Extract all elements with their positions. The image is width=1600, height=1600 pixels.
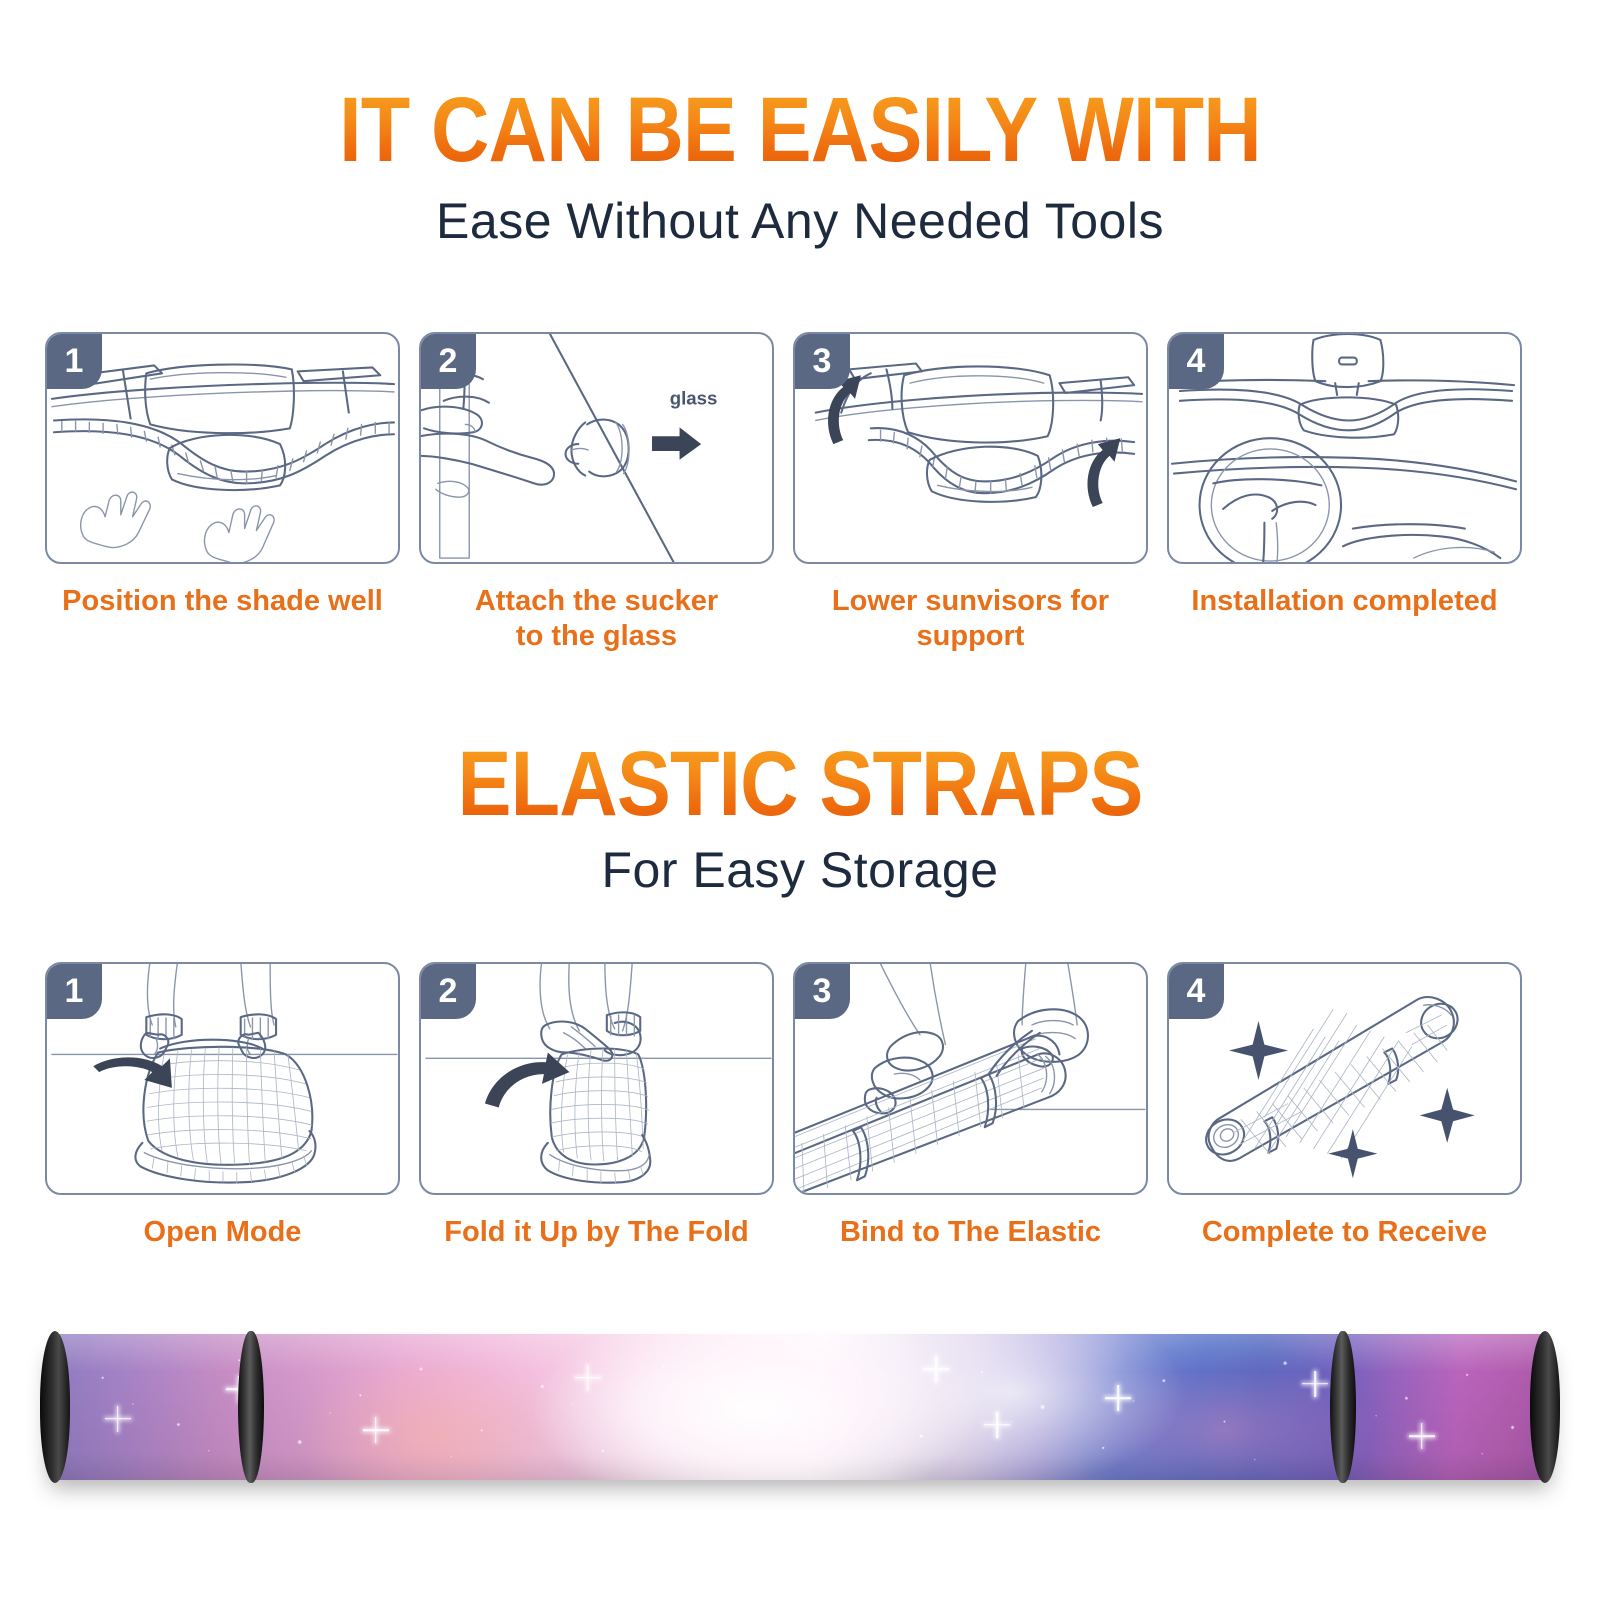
step-card-storage-4[interactable]: 4 — [1167, 962, 1522, 1250]
step-card-install-2[interactable]: 2 — [419, 332, 774, 655]
sparkle-icon — [1328, 1129, 1377, 1178]
glass-label: glass — [670, 388, 718, 409]
twinkle-star-icon — [1412, 1426, 1432, 1446]
step-caption: Position the shade well — [38, 584, 408, 619]
infographic-page: IT CAN BE EASILY WITH Ease Without Any N… — [0, 0, 1600, 1600]
step-frame: 3 — [793, 962, 1148, 1195]
step-card-install-3[interactable]: 3 — [793, 332, 1148, 655]
step-caption: Lower sunvisors for support — [786, 584, 1156, 655]
step-number-badge: 1 — [46, 333, 102, 389]
twinkle-star-icon — [1306, 1375, 1324, 1393]
step-frame: 4 — [1167, 962, 1522, 1195]
step-number-badge: 4 — [1168, 333, 1224, 389]
twinkle-star-icon — [986, 1414, 1008, 1436]
section-subtitle-storage: For Easy Storage — [0, 845, 1600, 895]
step-card-storage-1[interactable]: 1 — [45, 962, 400, 1250]
twinkle-star-icon — [366, 1420, 386, 1440]
step-caption: Fold it Up by The Fold — [412, 1215, 782, 1250]
step-frame: 2 — [419, 332, 774, 564]
step-frame: 3 — [793, 332, 1148, 564]
sparkle-icon — [1420, 1088, 1475, 1143]
step-number-badge: 3 — [794, 333, 850, 389]
sparkle-icon — [1229, 1021, 1288, 1080]
twinkle-star-icon — [579, 1369, 597, 1387]
step-caption: Installation completed — [1160, 584, 1530, 619]
step-number-badge: 4 — [1168, 963, 1224, 1019]
step-card-storage-2[interactable]: 2 — [419, 962, 774, 1250]
step-card-storage-3[interactable]: 3 — [793, 962, 1148, 1250]
section-title-storage: ELASTIC STRAPS — [96, 738, 1504, 830]
step-card-install-4[interactable]: 4 — [1167, 332, 1522, 655]
step-caption: Complete to Receive — [1160, 1215, 1530, 1250]
elastic-strap — [238, 1331, 264, 1483]
twinkle-star-icon — [1108, 1388, 1128, 1408]
step-number-badge: 3 — [794, 963, 850, 1019]
section-title-installation: IT CAN BE EASILY WITH — [96, 84, 1504, 176]
step-number-badge: 2 — [420, 963, 476, 1019]
step-caption: Bind to The Elastic — [786, 1215, 1156, 1250]
step-frame: 2 — [419, 962, 774, 1195]
step-frame: 1 — [45, 962, 400, 1195]
twinkle-star-icon — [923, 1356, 949, 1382]
section-subtitle-installation: Ease Without Any Needed Tools — [0, 196, 1600, 246]
step-caption: Attach the sucker to the glass — [412, 584, 782, 655]
roll-end-cap-right — [1530, 1331, 1560, 1483]
step-frame: 1 — [45, 332, 400, 564]
step-number-badge: 2 — [420, 333, 476, 389]
step-number-badge: 1 — [46, 963, 102, 1019]
step-caption: Open Mode — [38, 1215, 408, 1250]
step-frame: 4 — [1167, 332, 1522, 564]
installation-steps-row: 1 — [45, 332, 1555, 655]
storage-steps-row: 1 — [45, 962, 1555, 1250]
roll-end-cap-left — [40, 1331, 70, 1483]
elastic-strap — [1330, 1331, 1356, 1483]
twinkle-star-icon — [109, 1410, 127, 1428]
step-card-install-1[interactable]: 1 — [45, 332, 400, 655]
product-photo-rolled-sunshade — [42, 1334, 1558, 1480]
